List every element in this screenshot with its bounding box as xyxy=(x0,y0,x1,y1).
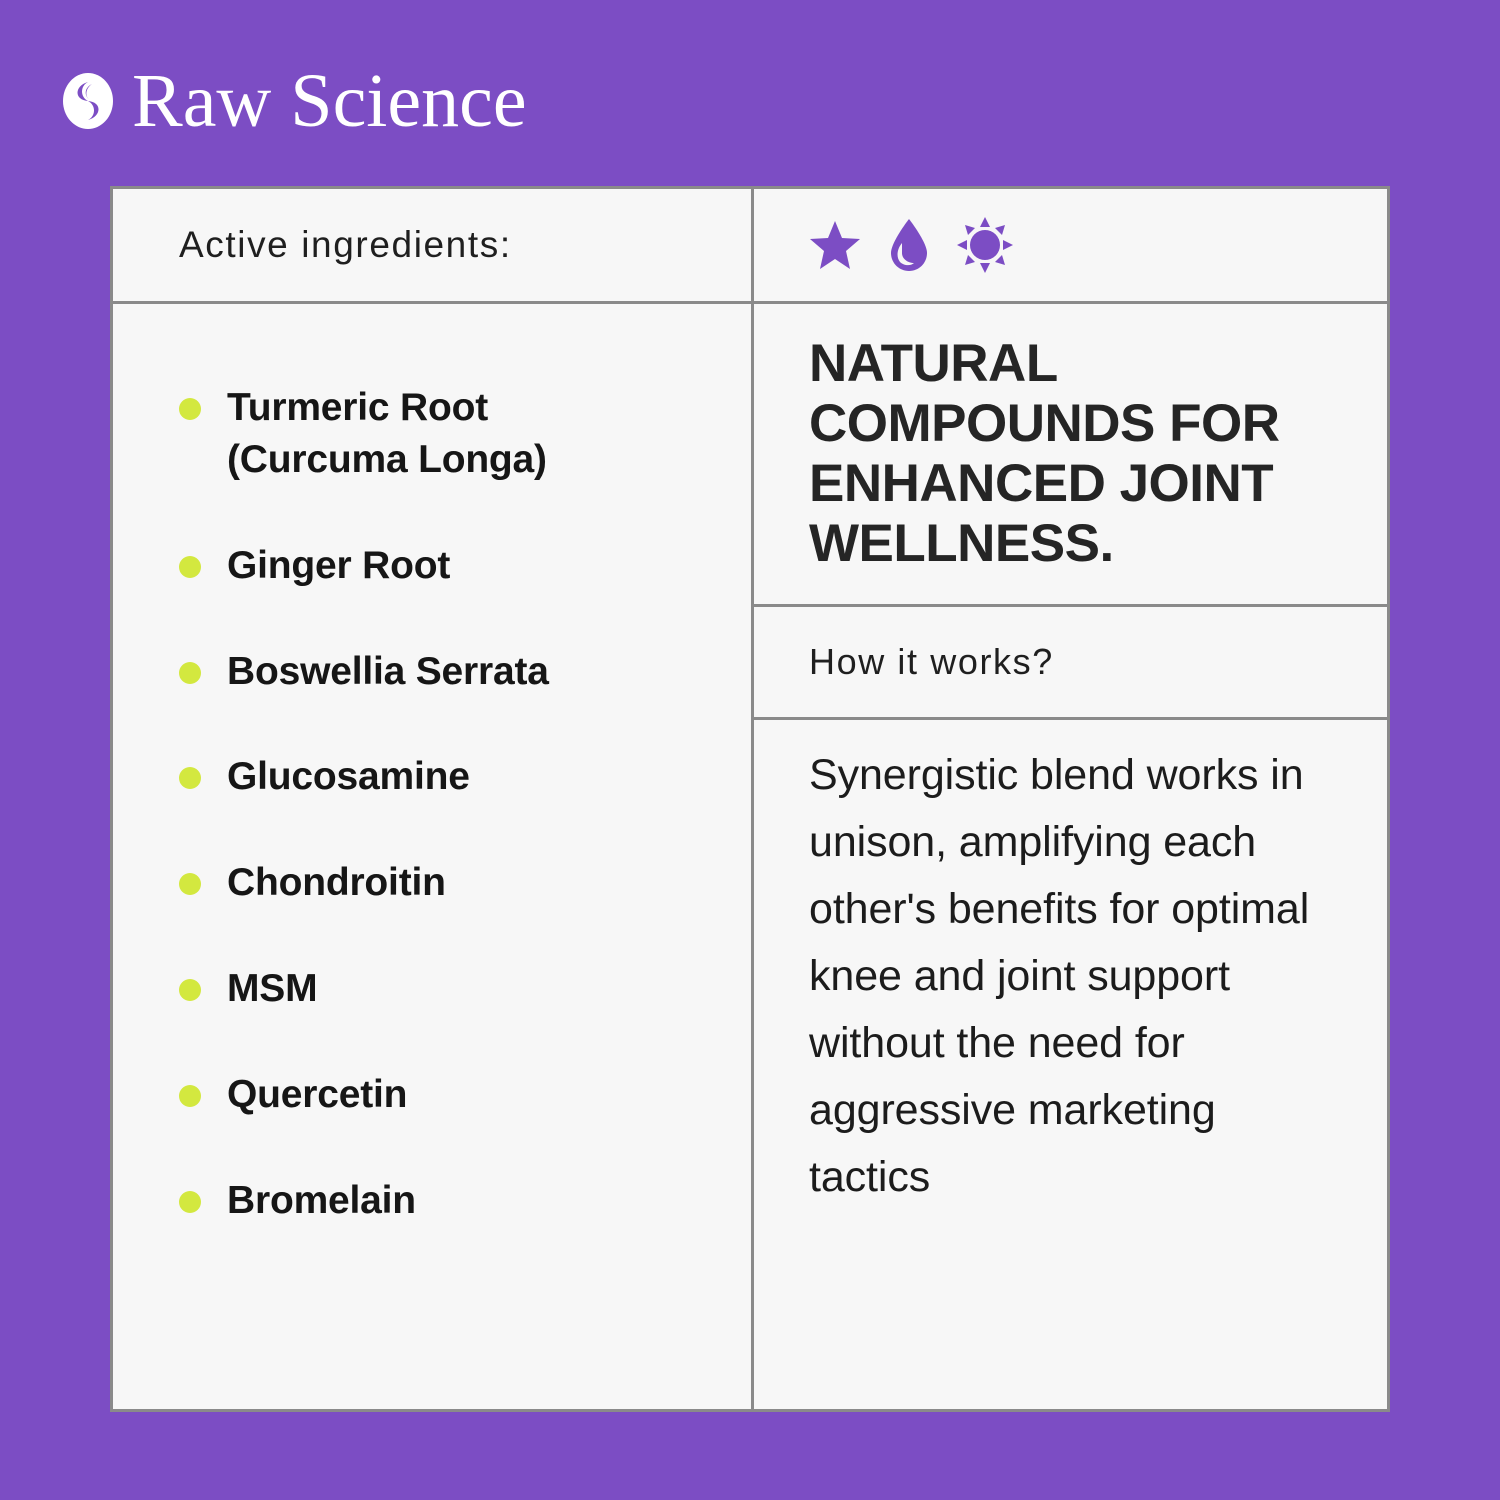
active-ingredients-label: Active ingredients: xyxy=(113,224,512,266)
list-item: Glucosamine xyxy=(179,751,751,803)
ingredient-label: MSM xyxy=(227,963,317,1015)
description-cell: Synergistic blend works in unison, ampli… xyxy=(754,720,1387,1212)
list-item: Chondroitin xyxy=(179,857,751,909)
product-infographic: Raw Science Active ingredients: xyxy=(0,0,1500,1500)
ingredient-label: Quercetin xyxy=(227,1069,407,1121)
ingredient-label: Bromelain xyxy=(227,1175,416,1227)
ingredients-card: Active ingredients: xyxy=(110,186,1390,1412)
benefit-icon-row xyxy=(754,189,1387,301)
sun-icon xyxy=(957,217,1013,273)
raw-science-seed-monogram-icon xyxy=(62,72,114,130)
water-drop-icon xyxy=(889,218,929,272)
section-label: How it works? xyxy=(809,641,1054,683)
ingredients-column: Turmeric Root(Curcuma Longa) Ginger Root… xyxy=(113,304,754,1409)
ingredient-label: Glucosamine xyxy=(227,751,470,803)
list-item: Ginger Root xyxy=(179,540,751,592)
bullet-icon xyxy=(179,556,201,578)
bullet-icon xyxy=(179,767,201,789)
header-left-cell: Active ingredients: xyxy=(113,189,754,301)
bullet-icon xyxy=(179,398,201,420)
bullet-icon xyxy=(179,1085,201,1107)
bullet-icon xyxy=(179,979,201,1001)
ingredient-label: Boswellia Serrata xyxy=(227,646,549,698)
how-it-works-cell: How it works? xyxy=(754,607,1387,720)
list-item: Turmeric Root(Curcuma Longa) xyxy=(179,382,751,486)
brand-logo: Raw Science xyxy=(62,58,527,144)
page-title: NATURAL COMPOUNDS FOR ENHANCED JOINT WEL… xyxy=(809,334,1329,574)
ingredient-label: Ginger Root xyxy=(227,540,450,592)
list-item: Quercetin xyxy=(179,1069,751,1121)
bullet-icon xyxy=(179,873,201,895)
card-header-row: Active ingredients: xyxy=(113,189,1387,304)
description-column: NATURAL COMPOUNDS FOR ENHANCED JOINT WEL… xyxy=(754,304,1387,1409)
ingredient-label: Chondroitin xyxy=(227,857,446,909)
ingredient-label: Turmeric Root(Curcuma Longa) xyxy=(227,382,547,486)
brand-name: Raw Science xyxy=(132,63,527,139)
list-item: MSM xyxy=(179,963,751,1015)
ingredients-list: Turmeric Root(Curcuma Longa) Ginger Root… xyxy=(113,304,751,1227)
star-icon xyxy=(809,220,861,270)
header-right-cell xyxy=(754,189,1387,301)
bullet-icon xyxy=(179,662,201,684)
list-item: Boswellia Serrata xyxy=(179,646,751,698)
list-item: Bromelain xyxy=(179,1175,751,1227)
card-body-row: Turmeric Root(Curcuma Longa) Ginger Root… xyxy=(113,304,1387,1409)
bullet-icon xyxy=(179,1191,201,1213)
headline-cell: NATURAL COMPOUNDS FOR ENHANCED JOINT WEL… xyxy=(754,304,1387,607)
description-text: Synergistic blend works in unison, ampli… xyxy=(809,742,1345,1212)
